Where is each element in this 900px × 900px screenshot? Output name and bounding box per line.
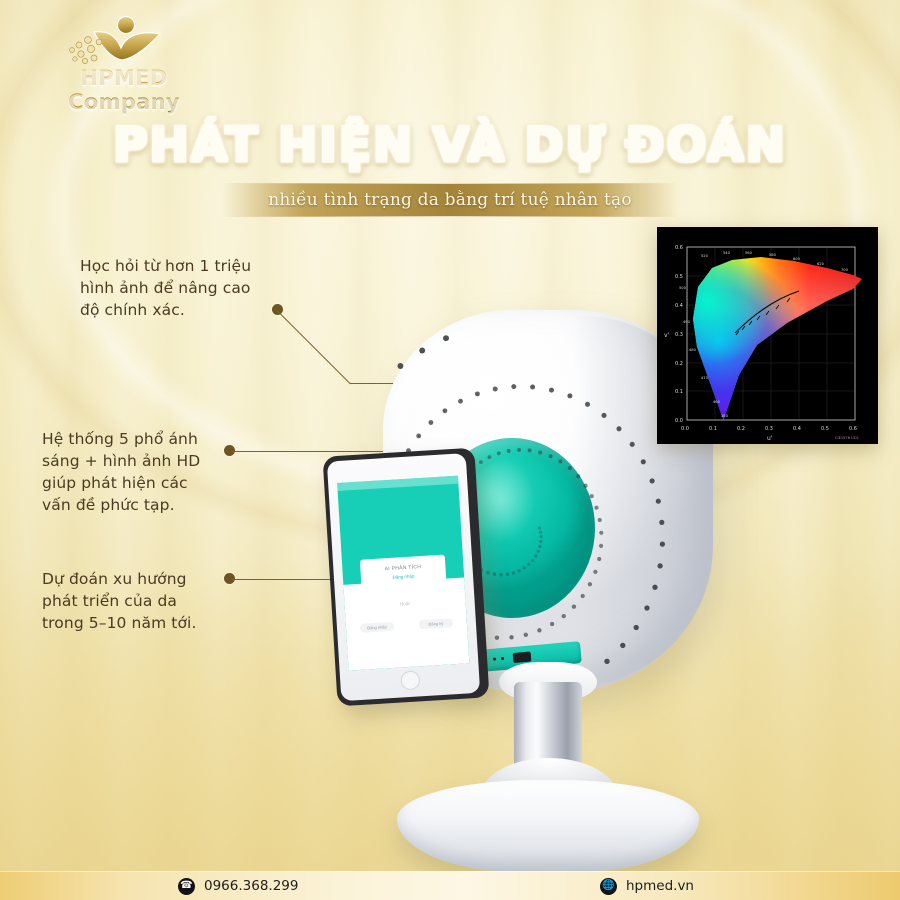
cie-chromaticity-diagram: 520540560 580600620 700500490 480470460 … [657,227,878,444]
tablet-screen[interactable]: AI PHÂN TÍCH Đăng nhập Tài khoản Mật khẩ… [337,476,469,671]
svg-text:580: 580 [769,253,777,257]
title-block: PHÁT HIỆN VÀ DỰ ĐOÁN [0,122,900,169]
contact-footer: ☎ 0966.368.299 🌐 hpmed.vn [0,871,900,900]
svg-text:470: 470 [701,376,709,380]
svg-text:0.5: 0.5 [821,426,829,432]
svg-text:0.1: 0.1 [675,389,683,395]
tablet[interactable]: AI PHÂN TÍCH Đăng nhập Tài khoản Mật khẩ… [323,448,490,707]
phone-icon: ☎ [178,878,195,895]
svg-text:520: 520 [701,254,709,258]
svg-text:0.2: 0.2 [675,361,683,367]
svg-text:380: 380 [721,414,729,418]
callout-spectrum-text: Hệ thống 5 phổ ánh sáng + hình ảnh HD gi… [42,428,242,516]
svg-text:v': v' [664,332,670,339]
footer-website[interactable]: 🌐 hpmed.vn [600,872,694,900]
svg-text:490: 490 [683,320,691,324]
tablet-front: AI PHÂN TÍCH Đăng nhập Tài khoản Mật khẩ… [327,453,480,701]
svg-text:620: 620 [817,262,825,266]
svg-text:CIE1976 UCS: CIE1976 UCS [835,436,859,440]
svg-text:0.4: 0.4 [675,303,683,309]
device-base-plate [397,780,699,872]
app-login-button[interactable]: Đăng nhập [360,622,394,633]
footer-phone-text: 0966.368.299 [204,878,298,894]
footer-phone[interactable]: ☎ 0966.368.299 [178,872,298,900]
poster: HPMED Company PHÁT HIỆN VÀ DỰ ĐOÁN nhiều… [0,0,900,900]
callout-accuracy-text: Học hỏi từ hơn 1 triệu hình ảnh để nâng … [80,255,295,321]
tablet-status-bar [337,476,458,491]
svg-text:480: 480 [689,348,697,352]
svg-text:0.4: 0.4 [793,426,801,432]
app-divider-label: Hoặc [400,601,411,607]
svg-text:0.5: 0.5 [675,274,683,280]
globe-icon: 🌐 [600,878,617,895]
app-lower-panel: Hoặc Đăng nhập Đăng ký [343,577,469,670]
svg-text:0.3: 0.3 [675,332,683,338]
page-subtitle: nhiều tình trạng da bằng trí tuệ nhân tạ… [222,186,678,214]
app-signup-button[interactable]: Đăng ký [419,618,453,629]
svg-text:500: 500 [679,286,687,290]
svg-text:560: 560 [745,251,753,255]
svg-text:0.3: 0.3 [765,426,773,432]
svg-text:0.6: 0.6 [675,245,683,251]
svg-text:0.0: 0.0 [675,418,683,424]
tablet-home-button[interactable] [400,670,420,690]
brand-logo: HPMED Company [28,14,218,104]
svg-text:700: 700 [841,268,849,272]
callout-forecast-text: Dự đoán xu hướng phát triển của da trong… [42,568,242,634]
svg-text:460: 460 [713,400,721,404]
page-title: PHÁT HIỆN VÀ DỰ ĐOÁN [113,122,787,169]
brand-name: HPMED Company [34,66,214,114]
svg-text:0.0: 0.0 [681,426,689,432]
svg-text:0.6: 0.6 [849,426,857,432]
svg-text:0.2: 0.2 [737,426,745,432]
svg-text:600: 600 [793,257,801,261]
person-bubbles-icon [64,14,184,66]
svg-text:540: 540 [723,251,731,255]
svg-text:u': u' [767,435,773,442]
svg-text:0.1: 0.1 [709,426,717,432]
footer-website-text: hpmed.vn [626,878,694,894]
